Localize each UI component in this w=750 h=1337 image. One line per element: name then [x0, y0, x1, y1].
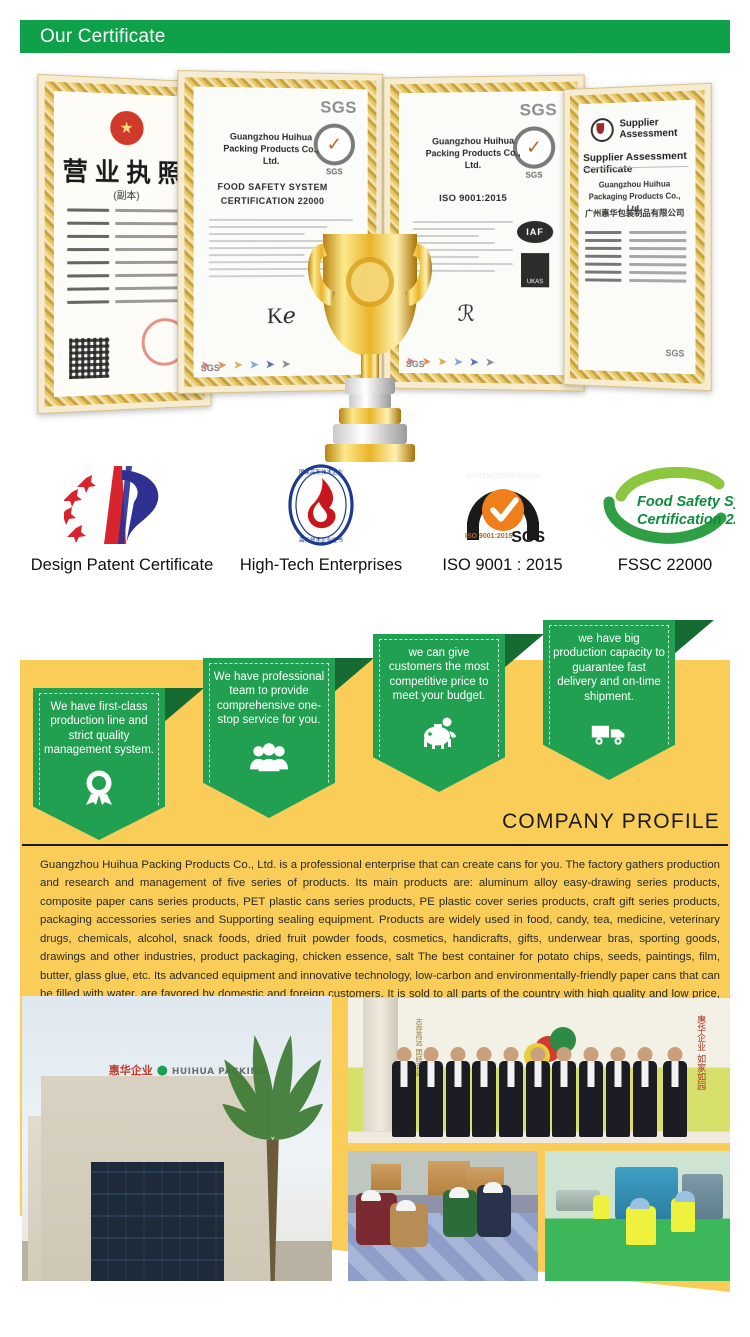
license-title-cn: 营业执照	[55, 151, 195, 190]
page-title: Our Certificate	[40, 26, 165, 48]
hair-net-cap	[396, 1200, 416, 1211]
logo-caption: FSSC 22000	[590, 556, 740, 575]
certificate-standard-line1: FOOD SAFETY SYSTEM	[212, 181, 333, 194]
logo-design-patent[interactable]: Design Patent Certificate	[22, 460, 222, 575]
logo-line-2: Assessment	[620, 128, 678, 141]
logo-caption: High-Tech Enterprises	[230, 556, 412, 575]
sgs-badge-label: SGS	[526, 171, 543, 180]
sgs-wordmark: SGS	[320, 98, 357, 118]
hair-net-cap	[449, 1187, 469, 1198]
certificate-page: Our Certificate 营业执照 (副本)	[0, 0, 750, 1337]
certificate-standard-line2: CERTIFICATION 22000	[212, 195, 333, 208]
ribbon-tail	[334, 658, 374, 692]
logo-fssc-22000[interactable]: Food Safety System Certification 22000 F…	[590, 460, 740, 575]
china-national-emblem-icon	[110, 110, 143, 145]
certificate-title: Supplier Assessment Certificate	[583, 150, 688, 176]
assessment-field-table	[585, 231, 686, 288]
fssc-line2-text: Certification 22000	[637, 512, 735, 528]
ribbon-text: We have professional team to provide com…	[212, 670, 326, 728]
svg-text:高新技术企业证书: 高新技术企业证书	[299, 536, 344, 544]
logo-sgs-iso[interactable]: SYSTEM CERTIFICATION ISO 9001:2015 SGS I…	[420, 460, 585, 575]
delivery-truck-icon	[590, 714, 628, 752]
company-photo-grid: 惠华企业 ● HUIHUA PACKING 志存高远 团结奋进 惠	[0, 996, 750, 1286]
worker	[626, 1206, 656, 1245]
license-subtitle-cn: (副本)	[55, 186, 195, 203]
award-ribbon-icon	[80, 768, 118, 806]
certificate-company-name: Guangzhou Huihua Packing Products Co., L…	[219, 130, 322, 167]
palm-tree-icon	[220, 1019, 325, 1281]
piggy-bank-icon	[420, 714, 458, 752]
certificate-company-name-cn: 广州惠华包装制品有限公司	[581, 207, 688, 220]
design-patent-logo-icon	[22, 460, 222, 550]
fssc-22000-logo-icon: Food Safety System Certification 22000	[590, 460, 740, 550]
building-sign-logo-icon: ●	[157, 1063, 168, 1078]
certificate-company-name: Guangzhou Huihua Packing Products Co., L…	[423, 135, 523, 172]
sgs-iso-logo-icon: SYSTEM CERTIFICATION ISO 9001:2015 SGS	[420, 460, 585, 550]
hair-net-cap	[675, 1191, 695, 1202]
iaf-mark-icon: IAF	[517, 221, 553, 243]
sgs-wordmark-text: SGS	[511, 529, 545, 546]
section-header-bar: Our Certificate	[20, 20, 730, 53]
ribbon-advantage-4[interactable]: we have big production capacity to guara…	[543, 620, 675, 780]
sgs-footer-wordmark: SGS	[665, 348, 684, 359]
signature-mark: Kℯ	[267, 303, 296, 329]
company-profile-divider	[22, 844, 728, 846]
certificate-paper: Supplier Assessment Supplier Assessment …	[579, 101, 694, 374]
ribbon-advantage-3[interactable]: we can give customers the most competiti…	[373, 634, 505, 792]
logo-caption: ISO 9001 : 2015	[420, 556, 585, 575]
ukas-mark-icon: UKAS	[521, 253, 549, 287]
sgs-badge-label: SGS	[326, 167, 343, 176]
supplier-assessment-logo: Supplier Assessment	[591, 115, 685, 142]
shield-seal-icon	[591, 118, 614, 142]
ribbon-body: We have professional team to provide com…	[203, 658, 335, 818]
ribbon-tail	[164, 688, 204, 722]
logo-caption: Design Patent Certificate	[22, 556, 222, 575]
certificate-supplier-assessment[interactable]: Supplier Assessment Supplier Assessment …	[563, 83, 711, 392]
ribbon-advantage-2[interactable]: We have professional team to provide com…	[203, 658, 335, 818]
certificate-gallery: 营业执照 (副本) SGS SGS Guangzhou Huihua Packi…	[0, 62, 750, 452]
sgs-ring-top-text: SYSTEM CERTIFICATION	[467, 474, 539, 480]
building-sign-cn: 惠华企业	[109, 1064, 153, 1077]
hair-net-cap	[483, 1182, 503, 1193]
ribbon-text: We have first-class production line and …	[42, 700, 156, 758]
supplier-assessment-logo-text: Supplier Assessment	[620, 117, 678, 141]
ribbon-tail	[504, 634, 544, 668]
worker	[671, 1198, 695, 1232]
ribbon-text: we have big production capacity to guara…	[552, 632, 666, 704]
license-field-list	[67, 204, 186, 310]
ribbon-body: we have big production capacity to guara…	[543, 620, 675, 780]
photo-glass-facade	[91, 1162, 224, 1281]
team-people-icon	[250, 738, 288, 776]
company-profile-title: COMPANY PROFILE	[502, 810, 720, 834]
sgs-iso-year-text: ISO 9001:2015	[465, 533, 513, 540]
photo-factory-building[interactable]: 惠华企业 ● HUIHUA PACKING	[22, 996, 332, 1281]
ribbon-advantage-1[interactable]: We have first-class production line and …	[33, 688, 165, 840]
sgs-wordmark: SGS	[520, 100, 558, 121]
advantage-ribbon-row: We have first-class production line and …	[0, 620, 750, 835]
worker	[593, 1195, 610, 1218]
qr-code-icon	[69, 337, 109, 379]
gold-trophy-icon	[305, 222, 435, 512]
ribbon-text: we can give customers the most competiti…	[382, 646, 496, 704]
certificate-standard: ISO 9001:2015	[416, 193, 530, 204]
ribbon-tail	[674, 620, 714, 654]
ribbon-body: we can give customers the most competiti…	[373, 634, 505, 792]
ribbon-body: We have first-class production line and …	[33, 688, 165, 840]
photo-packing-line[interactable]	[348, 1151, 538, 1281]
fssc-line1-text: Food Safety System	[637, 494, 735, 510]
carton-box	[371, 1164, 401, 1190]
photo-machine-shop[interactable]	[545, 1151, 730, 1281]
photo-team[interactable]: 志存高远 团结奋进 惠华企业 如家如园	[348, 998, 730, 1143]
backdrop-text-right: 惠华企业 如家如园	[693, 1015, 707, 1090]
certificate-paper: 营业执照 (副本)	[55, 92, 195, 396]
signature-mark: ℛ	[458, 301, 475, 327]
